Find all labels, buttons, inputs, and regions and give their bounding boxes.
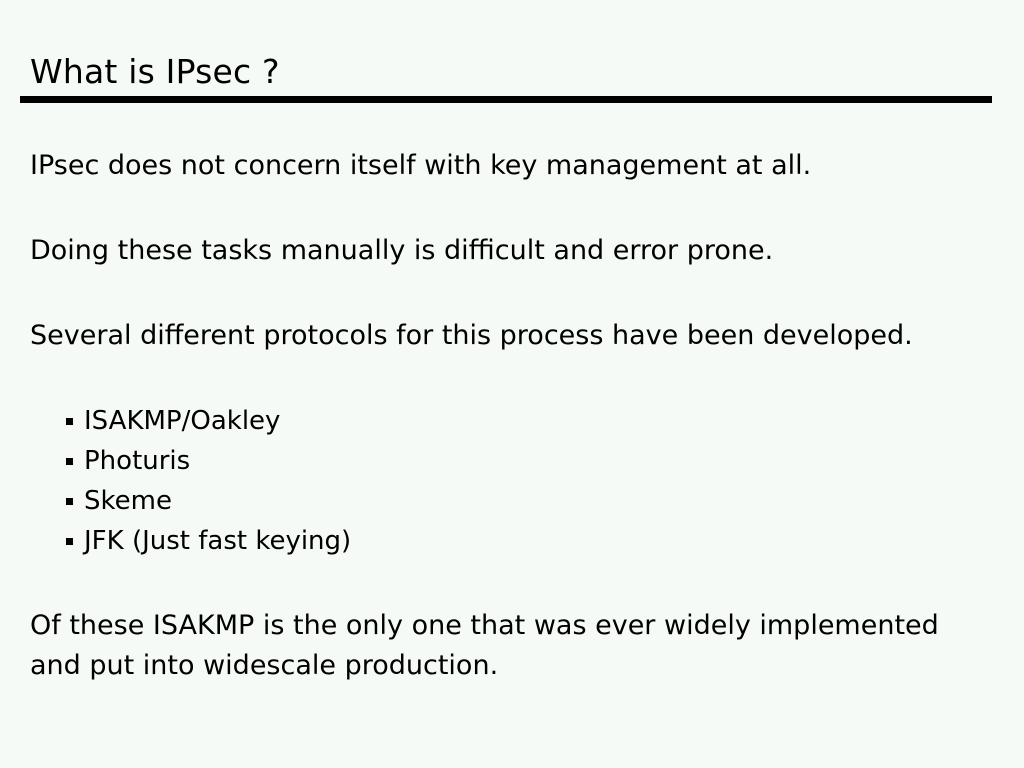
slide-canvas: What is IPsec ? IPsec does not concern i… <box>0 0 1024 768</box>
square-bullet-icon <box>66 498 73 505</box>
list-item: Skeme <box>66 481 351 521</box>
list-item: Photuris <box>66 441 351 481</box>
slide-body: IPsec does not concern itself with key m… <box>0 0 1024 768</box>
list-item-label: ISAKMP/Oakley <box>84 401 280 441</box>
list-item-label: Skeme <box>84 481 172 521</box>
closing-paragraph-line-2: and put into widescale production. <box>30 646 990 686</box>
list-item-label: JFK (Just fast keying) <box>84 521 351 561</box>
body-paragraph-2: Doing these tasks manually is difficult … <box>30 231 773 271</box>
closing-paragraph-line-1: Of these ISAKMP is the only one that was… <box>30 606 990 646</box>
square-bullet-icon <box>66 458 73 465</box>
list-item-label: Photuris <box>84 441 190 481</box>
square-bullet-icon <box>66 538 73 545</box>
protocol-list: ISAKMP/Oakley Photuris Skeme JFK (Just f… <box>66 401 351 561</box>
closing-paragraph: Of these ISAKMP is the only one that was… <box>30 606 990 686</box>
body-paragraph-3: Several different protocols for this pro… <box>30 316 913 356</box>
body-paragraph-1: IPsec does not concern itself with key m… <box>30 146 811 186</box>
list-item: JFK (Just fast keying) <box>66 521 351 561</box>
list-item: ISAKMP/Oakley <box>66 401 351 441</box>
square-bullet-icon <box>66 418 73 425</box>
